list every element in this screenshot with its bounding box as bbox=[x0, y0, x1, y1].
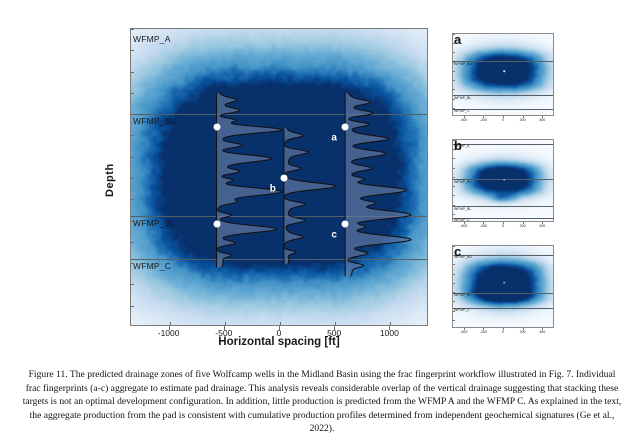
frac-fingerprint-curve-cluster bbox=[131, 29, 428, 326]
inset-label-c: c bbox=[454, 245, 461, 258]
inset-y-tick bbox=[453, 264, 455, 265]
inset-x-tick-label: 400 bbox=[539, 224, 545, 228]
inset-axes-c: WFMP_BUWFMP_BLWFMP_C bbox=[452, 245, 554, 328]
figure-caption: Figure 11. The predicted drainage zones … bbox=[22, 368, 622, 436]
x-tick-mark bbox=[279, 326, 280, 330]
inset-y-tick bbox=[453, 62, 455, 63]
inset-y-tick bbox=[453, 292, 455, 293]
inset-y-tick bbox=[453, 274, 455, 275]
inset-y-tick bbox=[453, 186, 455, 187]
inset-panel-a: WFMP_BUWFMP_BLWFMP_Ca-400-2000200400 bbox=[438, 22, 555, 126]
inset-horizon-label: WFMP_BL bbox=[454, 207, 471, 211]
inset-y-tick bbox=[453, 177, 455, 178]
x-axis-label: Horizontal spacing [ft] bbox=[130, 336, 428, 348]
inset-horizon-label: WFMP_C bbox=[454, 109, 470, 113]
inset-y-tick bbox=[453, 89, 455, 90]
well-marker bbox=[342, 221, 349, 228]
inset-x-tick-label: -400 bbox=[460, 330, 467, 334]
inset-x-tick-label: -200 bbox=[480, 224, 487, 228]
inset-x-tick-label: 0 bbox=[502, 224, 504, 228]
main-plot-axes: WFMP_AWFMP_BUWFMP_BLWFMP_Cbac bbox=[130, 28, 428, 326]
inset-y-tick bbox=[453, 168, 455, 169]
inset-horizon-label: WFMP_BU bbox=[454, 180, 472, 184]
well-marker bbox=[342, 124, 349, 131]
x-tick-mark bbox=[334, 326, 335, 330]
inset-x-tick-label: -200 bbox=[480, 118, 487, 122]
inset-y-tick bbox=[453, 108, 455, 109]
inset-label-a: a bbox=[454, 33, 461, 46]
inset-panel-b: WFMP_AWFMP_BUWFMP_BLWFMP_Cb-400-20002004… bbox=[438, 128, 555, 232]
inset-x-tick-label: -200 bbox=[480, 330, 487, 334]
inset-horizon-label: WFMP_C bbox=[454, 308, 470, 312]
inset-y-tick bbox=[453, 195, 455, 196]
inset-horizon-label: WFMP_BL bbox=[454, 96, 471, 100]
well-marker-label-c: c bbox=[331, 230, 337, 241]
figure-area: Depth WFMP_AWFMP_BUWFMP_BLWFMP_Cbac -100… bbox=[0, 0, 642, 352]
inset-y-tick bbox=[453, 320, 455, 321]
inset-y-tick bbox=[453, 301, 455, 302]
inset-x-tick-label: 400 bbox=[539, 330, 545, 334]
inset-y-tick bbox=[453, 99, 455, 100]
inset-x-tick-label: 0 bbox=[502, 330, 504, 334]
inset-y-tick bbox=[453, 283, 455, 284]
inset-x-tick-label: 0 bbox=[502, 118, 504, 122]
inset-y-tick bbox=[453, 214, 455, 215]
inset-y-tick bbox=[453, 158, 455, 159]
inset-y-tick bbox=[453, 52, 455, 53]
inset-x-tick-label: -400 bbox=[460, 224, 467, 228]
inset-horizon-label: WFMP_BU bbox=[454, 62, 472, 66]
inset-x-tick-label: 200 bbox=[520, 118, 526, 122]
inset-x-tick-label: 200 bbox=[520, 330, 526, 334]
x-tick-mark bbox=[389, 326, 390, 330]
inset-horizon-label: WFMP_BL bbox=[454, 293, 471, 297]
x-tick-mark bbox=[169, 326, 170, 330]
inset-y-tick bbox=[453, 311, 455, 312]
inset-axes-b: WFMP_AWFMP_BUWFMP_BLWFMP_C bbox=[452, 139, 554, 222]
inset-label-b: b bbox=[454, 139, 462, 152]
inset-y-tick bbox=[453, 205, 455, 206]
inset-y-tick bbox=[453, 71, 455, 72]
inset-x-tick-label: 400 bbox=[539, 118, 545, 122]
inset-x-tick-label: -400 bbox=[460, 118, 467, 122]
inset-y-tick bbox=[453, 80, 455, 81]
inset-heatmap-a bbox=[453, 34, 553, 115]
x-tick-mark bbox=[224, 326, 225, 330]
well-marker-label-a: a bbox=[331, 133, 337, 144]
inset-panel-c: WFMP_BUWFMP_BLWFMP_Cc-400-2000200400 bbox=[438, 234, 555, 338]
inset-well-marker bbox=[503, 179, 505, 181]
y-axis-label: Depth bbox=[104, 140, 118, 220]
inset-well-marker bbox=[503, 71, 505, 73]
inset-axes-a: WFMP_BUWFMP_BLWFMP_C bbox=[452, 33, 554, 116]
inset-x-tick-label: 200 bbox=[520, 224, 526, 228]
inset-horizon-label: WFMP_C bbox=[454, 218, 470, 222]
inset-well-marker bbox=[503, 282, 505, 284]
